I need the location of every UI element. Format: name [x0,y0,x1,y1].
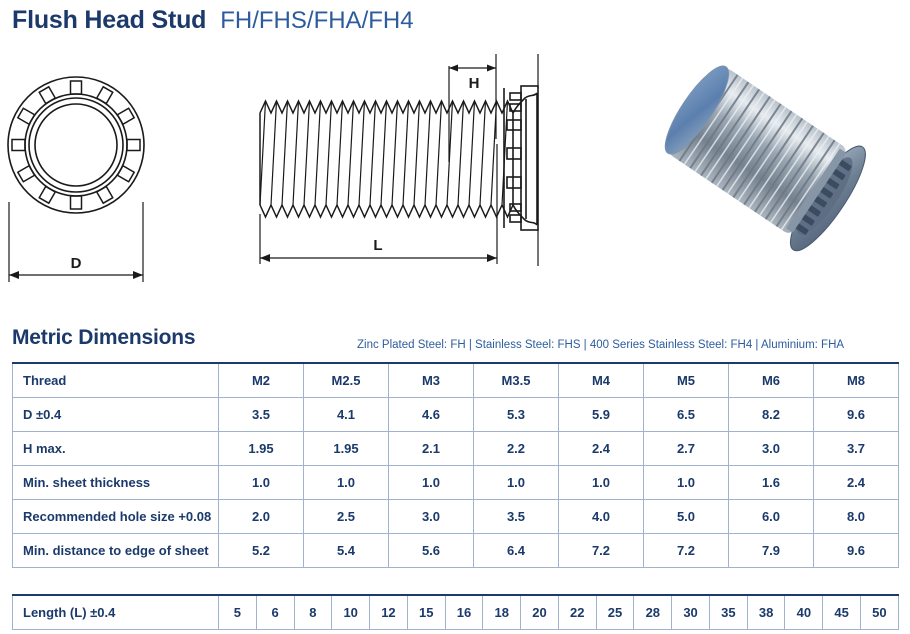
table-cell: 4.0 [559,499,644,533]
front-view-drawing: D [0,44,230,294]
thread-size-header: M2 [219,363,304,397]
table-row: H max.1.951.952.12.22.42.73.03.7 [13,431,899,465]
table-cell: 6.5 [644,397,729,431]
length-cell: 45 [823,595,861,629]
length-cell: 8 [294,595,332,629]
table-cell: 3.0 [389,499,474,533]
materials-note: Zinc Plated Steel: FH | Stainless Steel:… [357,339,844,351]
side-view-drawing: H L [238,44,538,294]
table-cell: 2.5 [304,499,389,533]
table-cell: 9.6 [814,533,899,567]
table-row: Min. distance to edge of sheet5.25.45.66… [13,533,899,567]
metric-dimensions-table: ThreadM2M2.5M3M3.5M4M5M6M8D ±0.43.54.14.… [12,362,899,568]
thread-size-header: M3.5 [474,363,559,397]
thread-size-header: M2.5 [304,363,389,397]
table-cell: 1.0 [219,465,304,499]
table-row: Recommended hole size +0.082.02.53.03.54… [13,499,899,533]
table-cell: 1.95 [219,431,304,465]
table-cell: 3.0 [729,431,814,465]
length-cell: 12 [370,595,408,629]
table-cell: 3.7 [814,431,899,465]
thread-size-header: M6 [729,363,814,397]
page-title: Flush Head Stud FH/FHS/FHA/FH4 [12,6,414,35]
product-3d-render [648,52,910,287]
thread-size-header: M3 [389,363,474,397]
title-product-name: Flush Head Stud [12,6,206,35]
table-cell: 5.2 [219,533,304,567]
length-cell: 50 [861,595,899,629]
table-row: Min. sheet thickness1.01.01.01.01.01.01.… [13,465,899,499]
thread-size-header: M4 [559,363,644,397]
knurl-teeth [12,81,140,209]
front-view-d-label: D [71,255,82,272]
length-cell: 20 [521,595,559,629]
table-cell: 1.6 [729,465,814,499]
table-cell: 1.0 [304,465,389,499]
length-cell: 25 [596,595,634,629]
table-cell: 5.0 [644,499,729,533]
table-cell: 2.2 [474,431,559,465]
table-cell: 3.5 [219,397,304,431]
length-cell: 16 [445,595,483,629]
table-cell: 2.1 [389,431,474,465]
row-label: Recommended hole size +0.08 [13,499,219,533]
table-header-row: ThreadM2M2.5M3M3.5M4M5M6M8 [13,363,899,397]
table-cell: 7.2 [559,533,644,567]
table-cell: 6.0 [729,499,814,533]
thread-size-header: M8 [814,363,899,397]
table-cell: 1.95 [304,431,389,465]
length-cell: 30 [672,595,710,629]
table-cell: 1.0 [644,465,729,499]
length-cell: 40 [785,595,823,629]
row-label: Min. sheet thickness [13,465,219,499]
row-label: H max. [13,431,219,465]
length-cell: 18 [483,595,521,629]
thread-profile [260,101,513,217]
length-cell: 10 [332,595,370,629]
table-cell: 8.2 [729,397,814,431]
table-cell: 1.0 [559,465,644,499]
length-row-label: Length (L) ±0.4 [13,595,219,629]
table-cell: 2.0 [219,499,304,533]
table-cell: 2.4 [559,431,644,465]
table-cell: 3.5 [474,499,559,533]
table-cell: 8.0 [814,499,899,533]
table-cell: 1.0 [474,465,559,499]
row-label: Min. distance to edge of sheet [13,533,219,567]
thread-size-header: M5 [644,363,729,397]
head-flange-detail [494,44,554,294]
row-label: D ±0.4 [13,397,219,431]
table-cell: 4.6 [389,397,474,431]
length-cell: 22 [558,595,596,629]
length-cell: 15 [407,595,445,629]
table-cell: 7.9 [729,533,814,567]
table-cell: 5.4 [304,533,389,567]
table-cell: 9.6 [814,397,899,431]
table-cell: 4.1 [304,397,389,431]
datasheet-page: Flush Head Stud FH/FHS/FHA/FH4 [0,0,910,634]
length-cell: 28 [634,595,672,629]
table-cell: 5.9 [559,397,644,431]
table-row: D ±0.43.54.14.65.35.96.58.29.6 [13,397,899,431]
length-cell: 6 [256,595,294,629]
side-view-h-label: H [469,75,480,92]
table-cell: 2.7 [644,431,729,465]
table-cell: 5.3 [474,397,559,431]
length-cell: 35 [709,595,747,629]
side-view-l-label: L [373,237,382,254]
thread-header-label: Thread [13,363,219,397]
length-row: Length (L) ±0.45681012151618202225283035… [13,595,899,629]
length-cell: 38 [747,595,785,629]
length-table: Length (L) ±0.45681012151618202225283035… [12,594,899,630]
technical-drawings: D [0,44,910,299]
table-cell: 7.2 [644,533,729,567]
length-cell: 5 [219,595,257,629]
title-product-codes: FH/FHS/FHA/FH4 [220,7,413,35]
table-cell: 6.4 [474,533,559,567]
table-cell: 1.0 [389,465,474,499]
section-heading: Metric Dimensions [12,326,195,350]
table-cell: 2.4 [814,465,899,499]
table-cell: 5.6 [389,533,474,567]
